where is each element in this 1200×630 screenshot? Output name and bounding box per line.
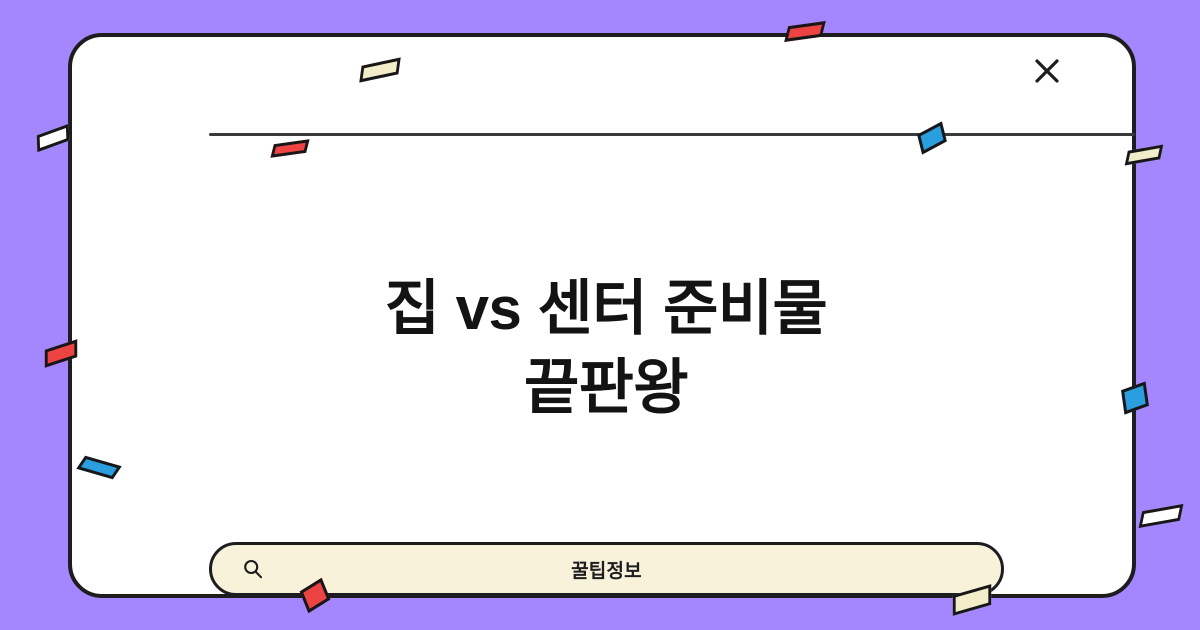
search-icon [242,558,264,580]
page-title: 집 vs 센터 준비물 끝판왕 [72,269,1140,427]
close-icon[interactable] [1028,52,1066,90]
title-text: 집 vs 센터 준비물 끝판왕 [72,269,1140,427]
search-pill-label: 꿀팁정보 [571,556,642,583]
confetti-white-lower-right [1139,504,1184,528]
content-card: 집 vs 센터 준비물 끝판왕 꿀팁정보 [68,33,1136,598]
search-pill-button[interactable]: 꿀팁정보 [209,542,1004,596]
header-divider [209,133,1135,136]
poster-canvas: 집 vs 센터 준비물 끝판왕 꿀팁정보 [0,0,1200,630]
confetti-white-left-upper [37,124,70,152]
